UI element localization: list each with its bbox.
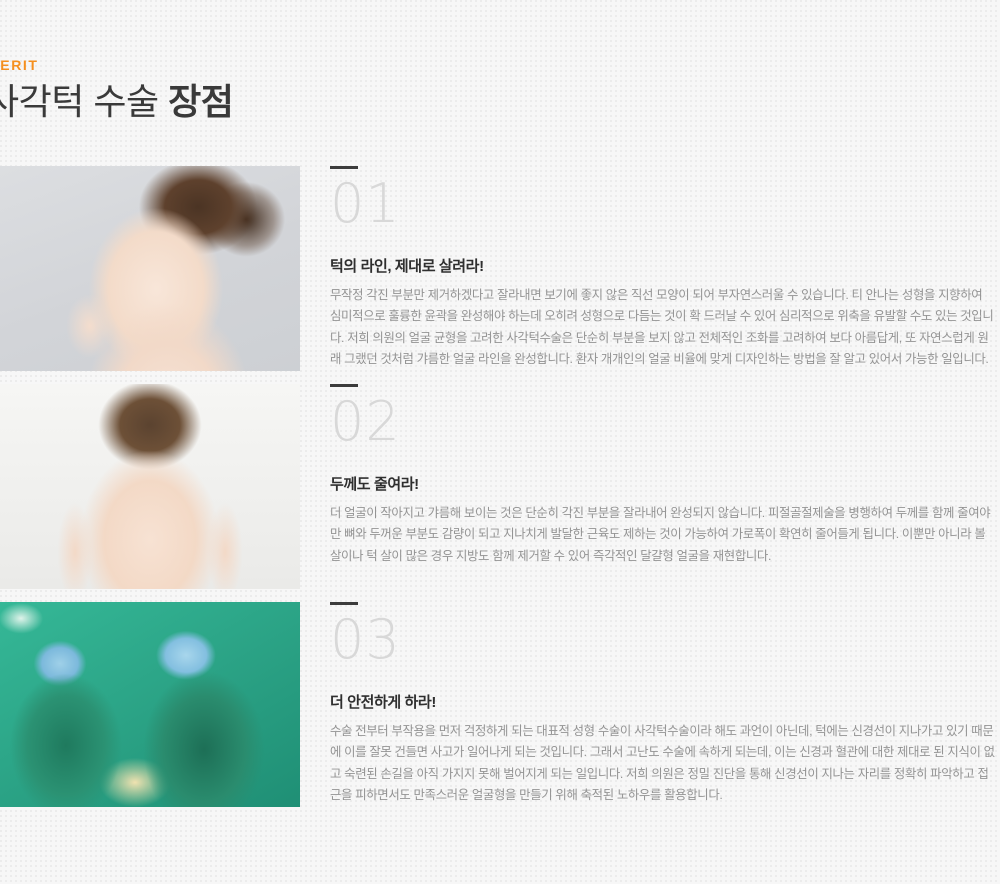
merit-section-03-content: 03 더 안전하게 하라! 수술 전부터 부작용을 먼저 걱정하게 되는 대표적… (330, 602, 990, 806)
merit-section-01: 01 턱의 라인, 제대로 살려라! 무작정 각진 부분만 제거하겠다고 잘라내… (0, 166, 1000, 384)
merit-section-03: 03 더 안전하게 하라! 수술 전부터 부작용을 먼저 걱정하게 되는 대표적… (0, 602, 1000, 820)
merit-section-02: 02 두께도 줄여라! 더 얼굴이 작아지고 갸름해 보이는 것은 단순히 각진… (0, 384, 1000, 602)
number-dash-icon (330, 602, 358, 605)
section-heading: 두께도 줄여라! (330, 473, 990, 494)
merit-section-02-content: 02 두께도 줄여라! 더 얼굴이 작아지고 갸름해 보이는 것은 단순히 각진… (330, 384, 990, 567)
merit-sections-list: 01 턱의 라인, 제대로 살려라! 무작정 각진 부분만 제거하겠다고 잘라내… (0, 166, 1000, 820)
section-eyebrow-label: MERIT (0, 58, 406, 72)
merit-section-01-content: 01 턱의 라인, 제대로 살려라! 무작정 각진 부분만 제거하겠다고 잘라내… (330, 166, 990, 370)
number-dash-icon (330, 166, 358, 169)
section-body-text: 무작정 각진 부분만 제거하겠다고 잘라내면 보기에 좋지 않은 직선 모양이 … (330, 285, 995, 370)
section-heading: 더 안전하게 하라! (330, 691, 990, 712)
page-title: 사각턱 수술 장점 (0, 81, 406, 123)
section-body-text: 더 얼굴이 작아지고 갸름해 보이는 것은 단순히 각진 부분을 잘라내어 완성… (330, 503, 995, 567)
section-number: 02 (330, 395, 990, 449)
surgery-operating-room-photo (0, 602, 300, 807)
section-body-text: 수술 전부터 부작용을 먼저 걱정하게 되는 대표적 성형 수술이 사각턱수술이… (330, 721, 995, 806)
woman-hands-on-cheeks-photo (0, 384, 300, 589)
page-title-light: 사각턱 수술 (0, 81, 168, 122)
section-number: 01 (330, 177, 990, 231)
page-header: MERIT 사각턱 수술 장점 (0, 58, 406, 123)
page-title-bold: 장점 (168, 81, 233, 122)
section-number: 03 (330, 613, 990, 667)
section-heading: 턱의 라인, 제대로 살려라! (330, 255, 990, 276)
woman-profile-photo (0, 166, 300, 371)
number-dash-icon (330, 384, 358, 387)
